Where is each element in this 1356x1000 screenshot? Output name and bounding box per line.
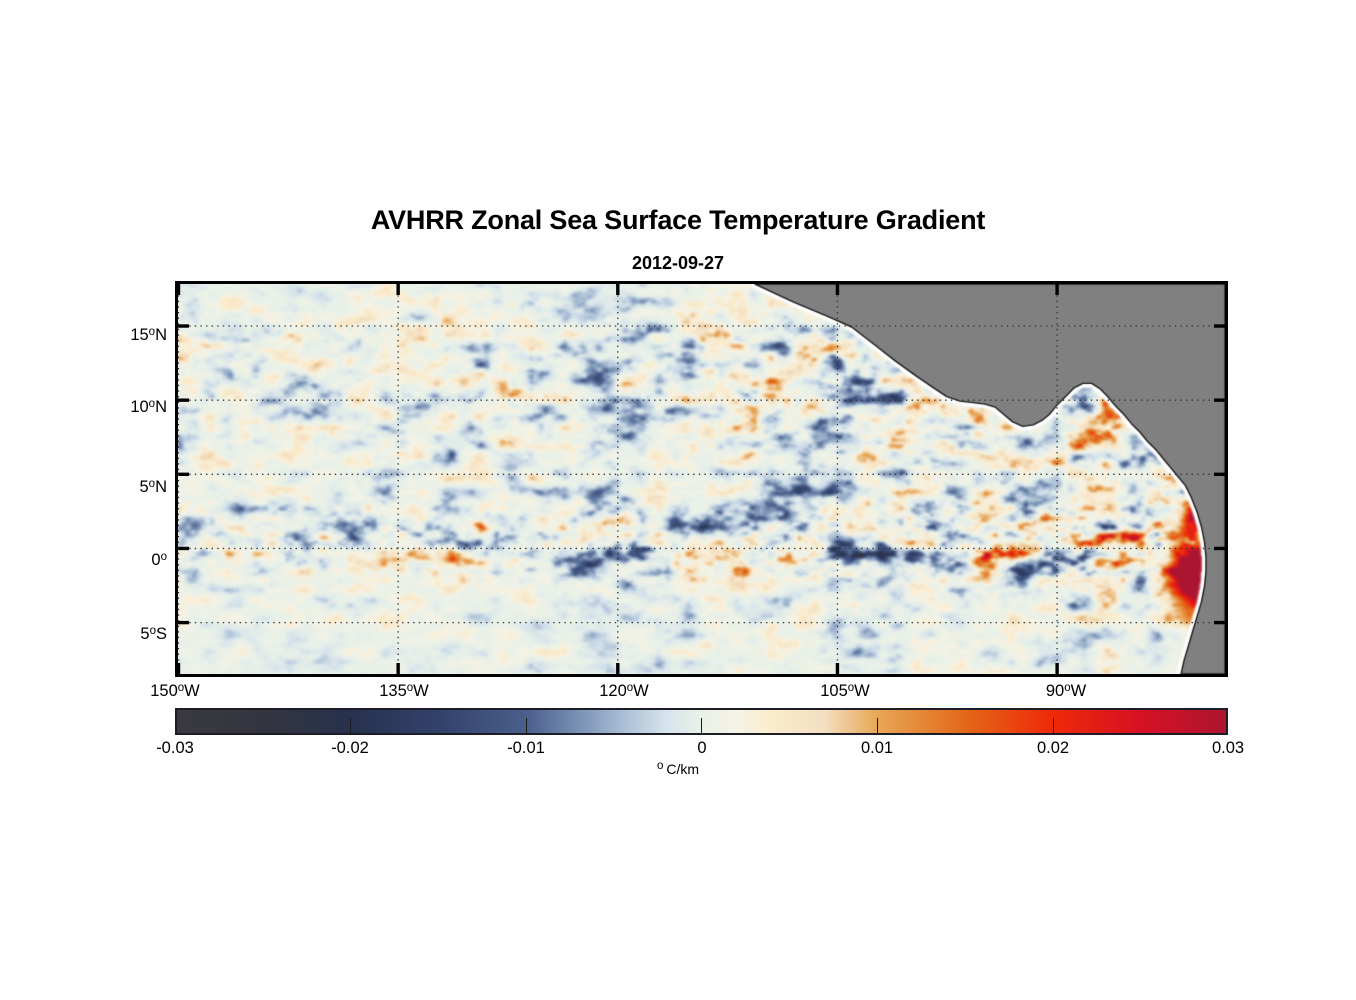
colorbar-tick [350,718,351,735]
y-tick-label-15N: 15oN [130,326,167,345]
x-tick-label-105W: 105oW [809,682,881,701]
colorbar-tick [877,718,878,735]
x-tick-label-90W: 90oW [1034,682,1098,701]
colorbar-tick [701,718,702,735]
x-tick-label-150W: 150oW [139,682,211,701]
colorbar-label--0.03: -0.03 [125,739,225,758]
x-tick-label-135W: 135oW [368,682,440,701]
chart-title: AVHRR Zonal Sea Surface Temperature Grad… [0,205,1356,236]
colorbar-tick [526,718,527,735]
y-tick-label-5S: 5oS [140,625,167,644]
y-tick-label-0: 0o [151,551,167,570]
colorbar [175,708,1228,735]
colorbar-label--0.02: -0.02 [300,739,400,758]
colorbar-tick [1053,718,1054,735]
colorbar-label-0.03: 0.03 [1178,739,1278,758]
colorbar-label-0.02: 0.02 [1003,739,1103,758]
y-tick-label-10N: 10oN [130,398,167,417]
map-overlay [178,284,1225,674]
colorbar-label-0: 0 [652,739,752,758]
figure-canvas: AVHRR Zonal Sea Surface Temperature Grad… [0,0,1356,1000]
colorbar-unit-label: oC/km [0,760,1356,777]
y-tick-label-5N: 5oN [139,478,167,497]
colorbar-label-0.01: 0.01 [827,739,927,758]
colorbar-label--0.01: -0.01 [476,739,576,758]
x-tick-label-120W: 120oW [588,682,660,701]
map-plot-area [175,281,1228,677]
chart-subtitle: 2012-09-27 [0,253,1356,274]
